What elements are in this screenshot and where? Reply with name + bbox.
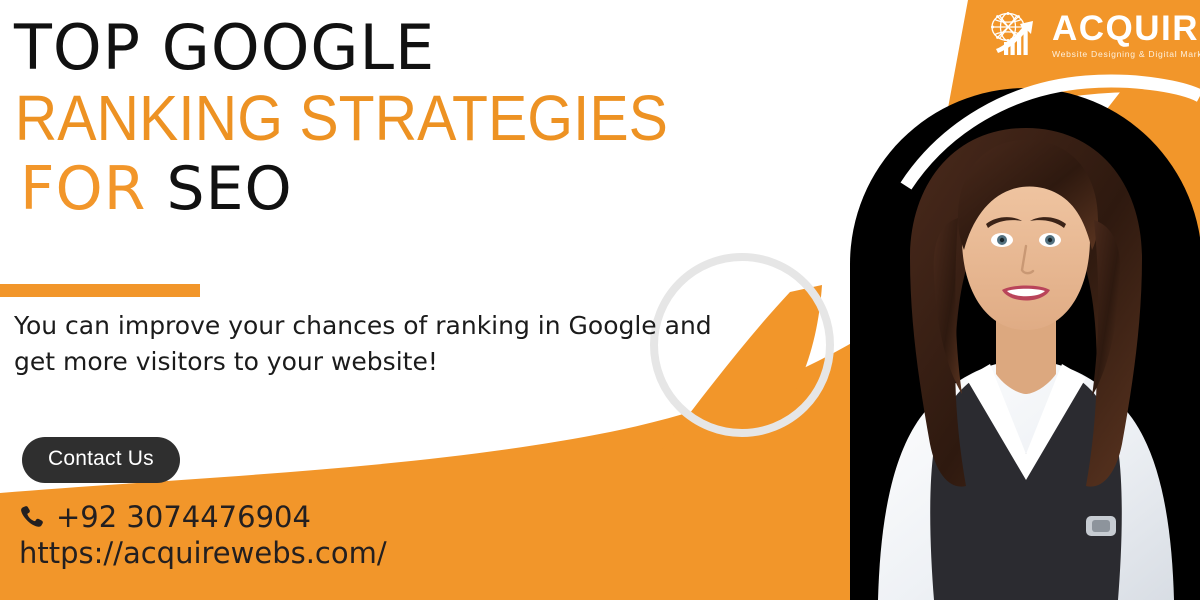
- phone-icon: [18, 504, 44, 530]
- headline-line-3-rest: SEO: [167, 154, 293, 224]
- phone-number: +92 3074476904: [56, 500, 311, 534]
- seo-marketing-banner: TOP GOOGLE RANKING STRATEGIES FOR SEO Yo…: [0, 0, 1200, 600]
- logo-wordmark: ACQUIRE: [1052, 11, 1200, 46]
- acquire-logo[interactable]: ACQUIRE Website Designing & Digital Mark…: [986, 8, 1200, 59]
- headline-line-1: TOP GOOGLE: [0, 18, 760, 78]
- website-url[interactable]: https://acquirewebs.com/: [18, 536, 578, 570]
- contact-info-block: +92 3074476904 https://acquirewebs.com/: [18, 500, 578, 570]
- phone-row[interactable]: +92 3074476904: [18, 500, 578, 534]
- headline-line-2: RANKING STRATEGIES: [0, 88, 699, 149]
- logo-text-group: ACQUIRE Website Designing & Digital Mark…: [1052, 8, 1200, 59]
- globe-growth-arrow-icon: [986, 8, 1048, 58]
- contact-us-button[interactable]: Contact Us: [22, 437, 180, 483]
- headline-line-3-highlight: FOR: [20, 154, 146, 224]
- headline-line-3: FOR SEO: [0, 161, 760, 219]
- subheading-text: You can improve your chances of ranking …: [14, 308, 714, 381]
- portrait-photo: [850, 88, 1200, 600]
- orange-accent-bar: [0, 284, 200, 297]
- businesswoman-figure: [850, 88, 1200, 600]
- logo-tagline: Website Designing & Digital Marketing Ag…: [1052, 50, 1200, 59]
- headline-block: TOP GOOGLE RANKING STRATEGIES FOR SEO: [0, 18, 760, 219]
